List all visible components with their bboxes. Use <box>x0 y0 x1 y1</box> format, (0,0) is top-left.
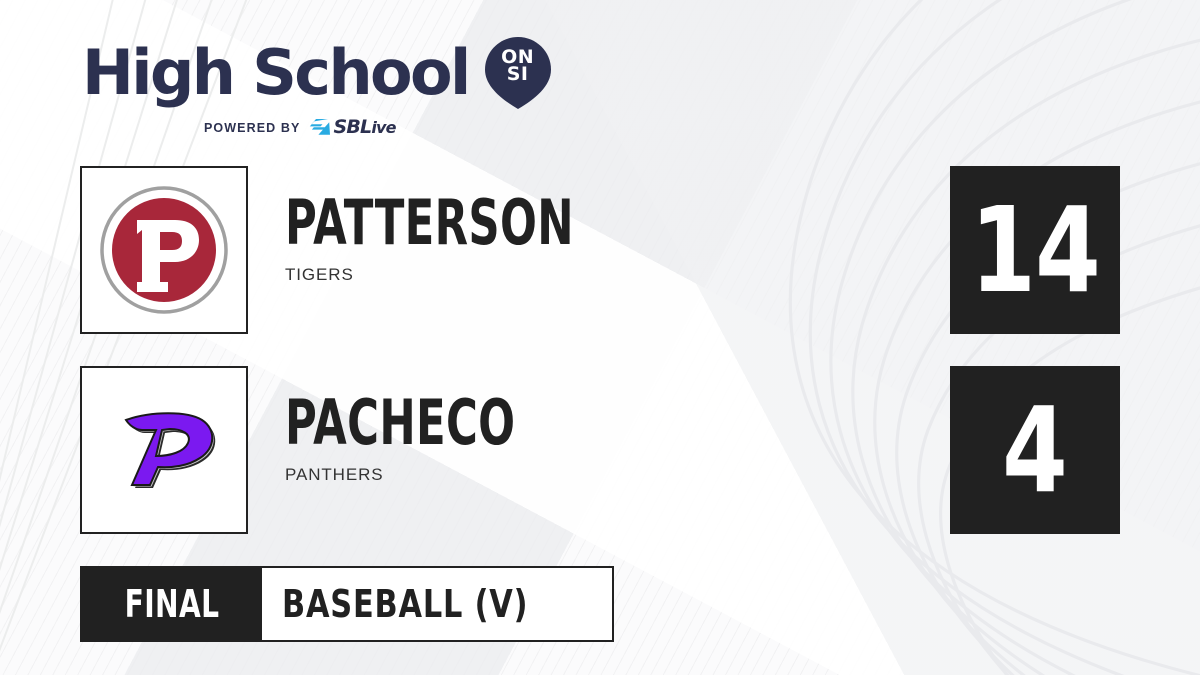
team-mascot-tigers: TIGERS <box>285 265 698 285</box>
sblive-logo: SBLive <box>309 118 395 137</box>
team-logo-patterson <box>80 166 248 334</box>
score-value-patterson: 14 <box>970 191 1100 309</box>
game-status-badge: FINAL <box>82 568 262 640</box>
team-mascot-panthers: PANTHERS <box>285 465 614 485</box>
team-text-patterson: PATTERSON TIGERS <box>285 194 698 285</box>
game-status-label: FINAL <box>125 582 220 626</box>
on-si-pin-label: ON SI <box>485 49 551 83</box>
score-box-pacheco: 4 <box>950 366 1120 534</box>
brand-wordmark-row: High School ON SI <box>82 37 551 109</box>
pin-line-si: SI <box>485 66 551 83</box>
team-name-patterson: PATTERSON <box>285 194 574 251</box>
sblive-wordmark: SBLive <box>333 118 395 137</box>
sblive-light-part: ive <box>371 118 395 137</box>
patterson-p-circle-logo-icon <box>96 182 232 318</box>
game-sport-badge: BASEBALL (V) <box>262 568 612 640</box>
score-box-patterson: 14 <box>950 166 1120 334</box>
scoreboard-graphic: High School ON SI POWERED BY SBLive <box>0 0 1200 675</box>
team-logo-pacheco <box>80 366 248 534</box>
sblive-s-mark-icon <box>309 118 330 137</box>
powered-by-label: POWERED BY <box>204 121 300 135</box>
sblive-bold-part: SBL <box>333 116 371 138</box>
brand-wordmark: High School <box>82 44 469 101</box>
brand-lockup: High School ON SI POWERED BY SBLive <box>82 37 551 137</box>
team-name-pacheco: PACHECO <box>285 394 515 451</box>
team-text-pacheco: PACHECO PANTHERS <box>285 394 614 485</box>
on-si-pin-icon: ON SI <box>485 37 551 109</box>
pacheco-p-script-logo-icon <box>96 382 232 518</box>
game-status-bar: FINAL BASEBALL (V) <box>80 566 614 642</box>
game-sport-label: BASEBALL (V) <box>282 582 528 626</box>
score-value-pacheco: 4 <box>1003 391 1068 509</box>
powered-by-row: POWERED BY SBLive <box>204 118 551 137</box>
